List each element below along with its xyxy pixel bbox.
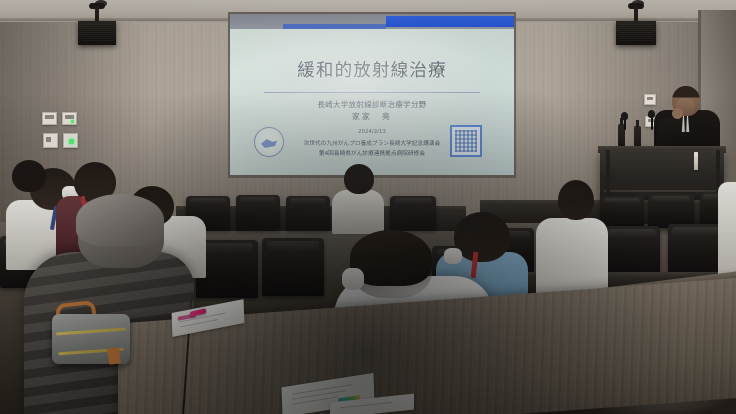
attendee-hair: [76, 194, 164, 246]
chair-highlight: [604, 198, 641, 204]
chair-highlight: [608, 229, 655, 238]
face-mask: [444, 248, 462, 264]
chair-r2-right[interactable]: [262, 238, 324, 296]
presentation-window-accent-strip: [386, 16, 514, 27]
chair-highlight: [267, 241, 319, 251]
attendee-head: [344, 164, 374, 194]
chair-highlight: [290, 198, 327, 204]
slide-affiliation: 長崎大学放射線診断治療学分野: [230, 99, 514, 110]
switch-panel-lower-right[interactable]: [63, 133, 78, 148]
white-pen: [694, 152, 698, 170]
projected-slide: 緩和的放射線治療 長崎大学放射線診断治療学分野 家家 亮 2024/2/13 次…: [230, 29, 514, 175]
switch-rocker: [647, 97, 653, 100]
ceiling-speaker-left: [78, 6, 116, 48]
chair-highlight: [240, 197, 277, 203]
chair-r5-4[interactable]: [668, 224, 724, 274]
speaker-grille: [81, 24, 113, 42]
chair-highlight: [672, 227, 719, 236]
switch-panel-lower-left[interactable]: [43, 133, 58, 148]
qr-code-pattern: [455, 130, 477, 152]
attendee-torso: [332, 190, 384, 234]
chair-r3-5[interactable]: [390, 196, 436, 230]
chair-r3-3[interactable]: [286, 196, 330, 230]
speaker-mount-arm: [95, 6, 99, 22]
microphone-head-1: [621, 112, 628, 120]
presenter-hand: [672, 108, 683, 119]
status-led-green: [71, 120, 74, 123]
ceiling-speaker-right: [616, 6, 656, 50]
chair-highlight: [201, 243, 253, 253]
switch-panel-podium-upper[interactable]: [644, 94, 656, 105]
attendee-head: [12, 160, 46, 192]
slide-divider-rule: [264, 92, 480, 93]
attendee-head: [558, 180, 594, 220]
chair-highlight: [394, 198, 433, 204]
switch-rocker: [65, 115, 74, 119]
switch-rocker: [46, 137, 51, 142]
face-mask: [342, 268, 364, 290]
chair-highlight: [190, 198, 227, 204]
switch-rocker: [45, 115, 54, 119]
speaker-mount-arm: [634, 6, 638, 22]
attendee-head: [454, 212, 510, 262]
speaker-grille: [619, 24, 653, 42]
chair-r3-2[interactable]: [236, 195, 280, 230]
slide-presenter-name: 家家 亮: [230, 111, 514, 122]
switch-panel-upper-left[interactable]: [42, 112, 57, 125]
handout-text-line: [340, 402, 392, 408]
speaker-box: [78, 21, 116, 45]
slide-title: 緩和的放射線治療: [230, 57, 514, 82]
switch-panel-upper-right[interactable]: [62, 112, 77, 125]
status-led-green: [69, 139, 74, 144]
chair-highlight: [652, 196, 691, 202]
qr-code-icon: [450, 125, 482, 157]
chair-r4-2[interactable]: [648, 194, 694, 228]
lectern-panel-line: [604, 190, 716, 192]
university-seal-icon: [254, 127, 284, 157]
speaker-box: [616, 21, 656, 45]
chair-r5-3[interactable]: [604, 226, 660, 274]
microphone-stand-2: [651, 116, 653, 130]
chair-r4-1[interactable]: [600, 196, 644, 228]
bag-leather-tab: [107, 347, 121, 365]
lecture-hall-photo: 緩和的放射線治療 長崎大学放射線診断治療学分野 家家 亮 2024/2/13 次…: [0, 0, 736, 414]
